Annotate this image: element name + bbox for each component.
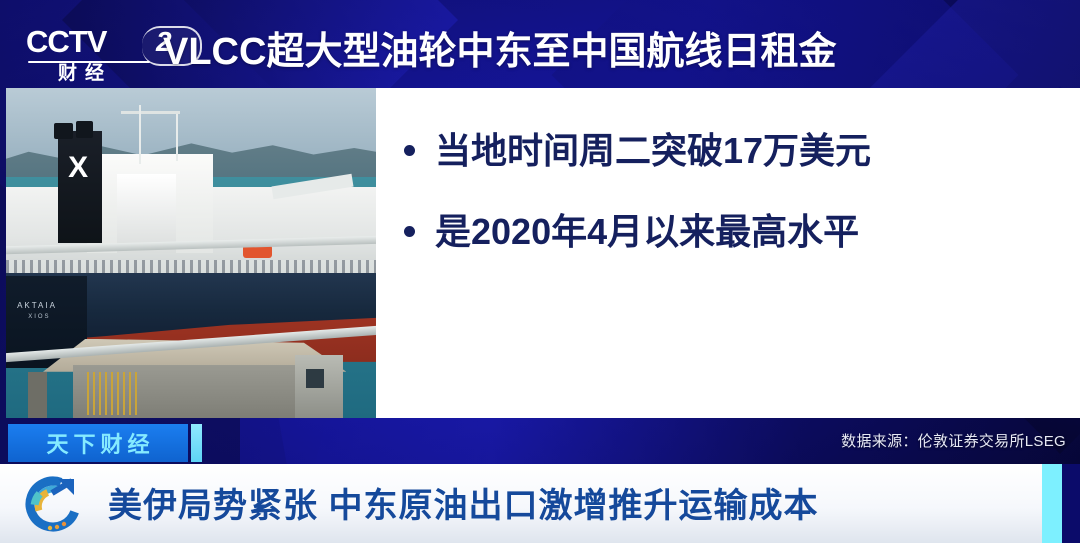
photo-funnel-cap-left [54, 123, 73, 140]
photo-funnel-mark: X [67, 154, 89, 190]
bullet-text: 是2020年4月以来最高水平 [435, 209, 859, 254]
bullet-item: 当地时间周二突破17万美元 [404, 128, 1054, 173]
photo-ship-name: AKTAIA [17, 301, 57, 310]
program-badge-accent-bar [191, 424, 202, 462]
header-bar: CCTV 财经 2 VLCC超大型油轮中东至中国航线日租金 [0, 0, 1080, 88]
photo-jetty-stairs [87, 372, 139, 415]
data-source-label: 数据来源：伦敦证券交易所LSEG [841, 430, 1066, 451]
ticker-headline: 美伊局势紧张 中东原油出口激增推升运输成本 [108, 478, 818, 527]
bullet-dot-icon [404, 145, 415, 156]
broadcast-screen: CCTV 财经 2 VLCC超大型油轮中东至中国航线日租金 X AKTAIA [0, 0, 1080, 543]
bullet-text: 当地时间周二突破17万美元 [435, 128, 871, 173]
news-photo-oil-tanker: X AKTAIA XIOS [6, 88, 376, 418]
page-title: VLCC超大型油轮中东至中国航线日租金 [163, 20, 836, 75]
photo-mast-2 [176, 114, 178, 160]
ticker-navy-edge [1062, 464, 1080, 543]
photo-jetty-cabin-window [306, 369, 325, 389]
content-panel: 当地时间周二突破17万美元 是2020年4月以来最高水平 [376, 88, 1080, 418]
bullet-list: 当地时间周二突破17万美元 是2020年4月以来最高水平 [404, 128, 1054, 290]
bullet-item: 是2020年4月以来最高水平 [404, 209, 1054, 254]
photo-jetty-leg [28, 372, 47, 418]
photo-ship-port: XIOS [28, 314, 50, 320]
program-name-badge: 天下财经 [8, 424, 188, 462]
photo-mast-rail [121, 111, 180, 114]
photo-funnel-cap-right [76, 121, 93, 138]
cctv-wordmark: CCTV [26, 26, 106, 57]
ticker-cyan-bar [1042, 464, 1062, 543]
photo-mast-1 [139, 105, 141, 164]
circular-arrow-logo-icon [22, 473, 84, 535]
program-name-label: 天下财经 [41, 427, 154, 459]
bottom-ticker: 美伊局势紧张 中东原油出口激增推升运输成本 [0, 464, 1080, 543]
cctv-subbrand: 财经 [58, 64, 112, 83]
bullet-dot-icon [404, 226, 415, 237]
